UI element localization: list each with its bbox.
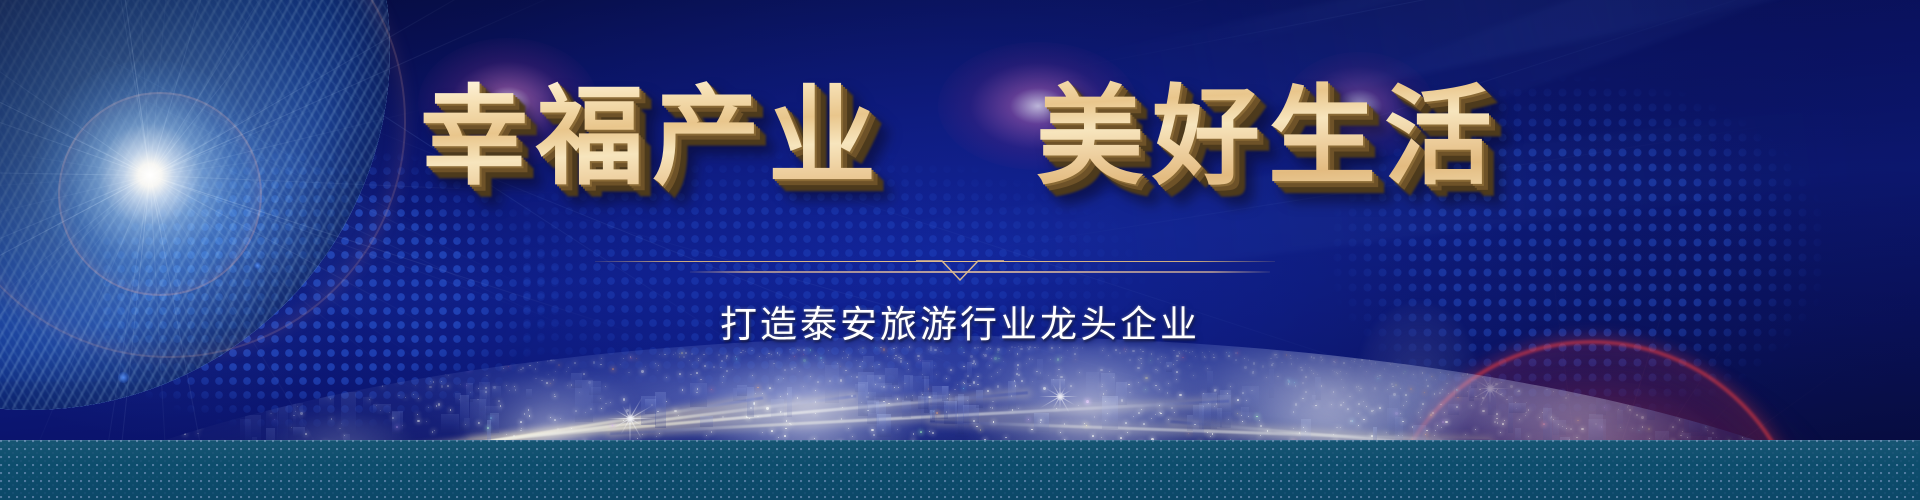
banner-subtitle-text: 打造泰安旅游行业龙头企业 [720, 302, 1200, 348]
bottom-bar-sheen [0, 440, 1920, 500]
v-notch-ornament-icon [916, 257, 1004, 283]
banner-headline-text: 幸福产业 美好生活 [420, 78, 1500, 196]
banner-headline: 幸福产业 美好生活 [0, 78, 1920, 196]
divider-ornament [0, 252, 1920, 284]
bottom-overlay-bar [0, 440, 1920, 500]
hero-banner: 幸福产业 美好生活 打造泰安旅游行业龙头企业 [0, 0, 1920, 500]
banner-subtitle: 打造泰安旅游行业龙头企业 [0, 302, 1920, 348]
